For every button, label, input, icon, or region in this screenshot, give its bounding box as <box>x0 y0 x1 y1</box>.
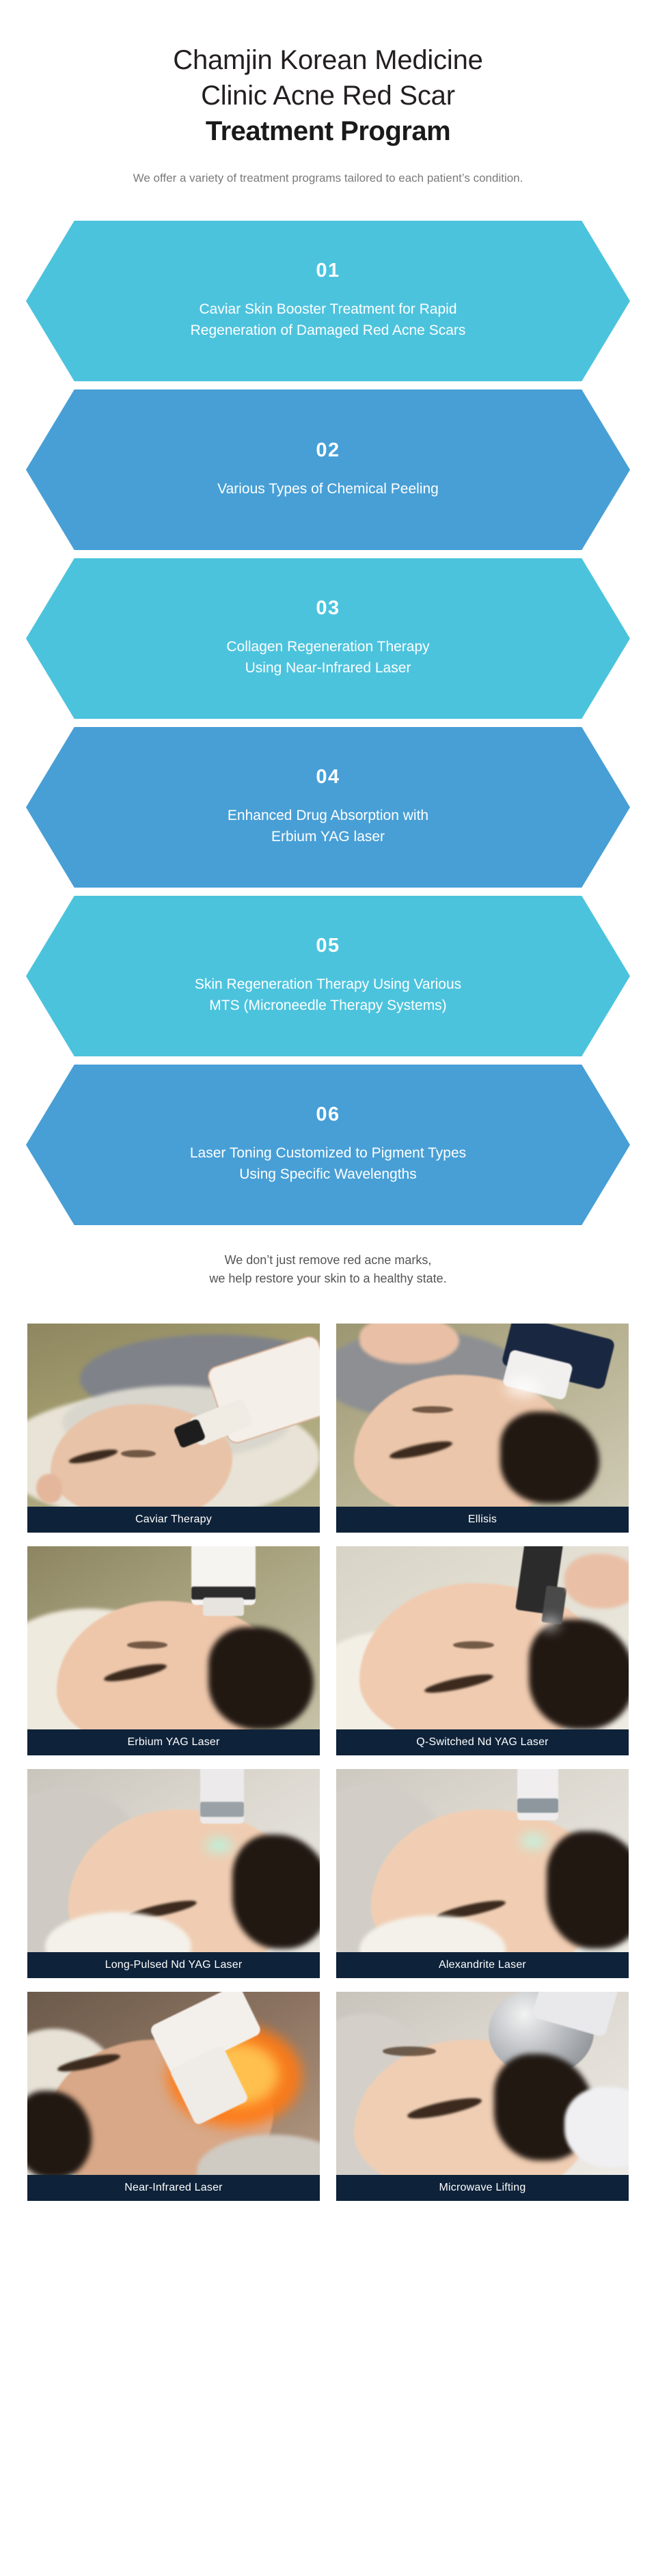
treatment-photo-q-switched-nd-yag-laser <box>336 1546 629 1729</box>
page-header: Chamjin Korean Medicine Clinic Acne Red … <box>0 0 656 187</box>
photo-caption: Near-Infrared Laser <box>27 2175 320 2201</box>
treatment-number: 05 <box>316 936 340 956</box>
photo-caption: Caviar Therapy <box>27 1507 320 1533</box>
gallery-item[interactable]: Ellisis <box>336 1324 629 1533</box>
photo-caption: Long-Pulsed Nd YAG Laser <box>27 1952 320 1978</box>
treatment-description: Enhanced Drug Absorption with Erbium YAG… <box>228 805 428 847</box>
treatment-photo-erbium-yag-laser <box>27 1546 320 1729</box>
gallery-item[interactable]: Microwave Lifting <box>336 1992 629 2201</box>
treatment-program-list: 01 Caviar Skin Booster Treatment for Rap… <box>0 221 656 1225</box>
photo-caption: Erbium YAG Laser <box>27 1729 320 1755</box>
page-title-line-2: Clinic Acne Red Scar <box>0 78 656 113</box>
page-subtitle: We offer a variety of treatment programs… <box>0 169 656 187</box>
treatment-number: 04 <box>316 767 340 787</box>
treatment-number: 06 <box>316 1105 340 1125</box>
treatment-description: Collagen Regeneration Therapy Using Near… <box>226 636 429 679</box>
photo-caption: Q-Switched Nd YAG Laser <box>336 1729 629 1755</box>
photo-caption: Ellisis <box>336 1507 629 1533</box>
gallery-item[interactable]: Caviar Therapy <box>27 1324 320 1533</box>
gallery-item[interactable]: Q-Switched Nd YAG Laser <box>336 1546 629 1755</box>
treatment-banner-03[interactable]: 03 Collagen Regeneration Therapy Using N… <box>26 558 630 719</box>
treatment-photo-long-pulsed-nd-yag-laser <box>27 1769 320 1952</box>
page-title-line-1: Chamjin Korean Medicine <box>0 42 656 78</box>
page-title-line-3: Treatment Program <box>0 113 656 149</box>
gallery-item[interactable]: Erbium YAG Laser <box>27 1546 320 1755</box>
treatment-photo-alexandrite-laser <box>336 1769 629 1952</box>
treatment-photo-gallery: Caviar Therapy Ellisis <box>0 1324 656 2242</box>
treatment-photo-near-infrared-laser <box>27 1992 320 2175</box>
treatment-description: Laser Toning Customized to Pigment Types… <box>190 1142 466 1185</box>
treatment-photo-ellisis <box>336 1324 629 1507</box>
treatment-photo-caviar-therapy <box>27 1324 320 1507</box>
gallery-item[interactable]: Near-Infrared Laser <box>27 1992 320 2201</box>
gallery-item[interactable]: Long-Pulsed Nd YAG Laser <box>27 1769 320 1978</box>
treatment-number: 03 <box>316 599 340 618</box>
treatment-number: 01 <box>316 261 340 281</box>
treatment-number: 02 <box>316 441 340 461</box>
treatment-banner-02[interactable]: 02 Various Types of Chemical Peeling <box>26 389 630 550</box>
treatment-description: Skin Regeneration Therapy Using Various … <box>195 974 461 1016</box>
gallery-item[interactable]: Alexandrite Laser <box>336 1769 629 1978</box>
photo-caption: Alexandrite Laser <box>336 1952 629 1978</box>
treatment-photo-microwave-lifting <box>336 1992 629 2175</box>
treatment-description: Various Types of Chemical Peeling <box>217 478 439 499</box>
photo-caption: Microwave Lifting <box>336 2175 629 2201</box>
treatment-banner-01[interactable]: 01 Caviar Skin Booster Treatment for Rap… <box>26 221 630 381</box>
treatment-banner-04[interactable]: 04 Enhanced Drug Absorption with Erbium … <box>26 727 630 888</box>
closing-statement: We don’t just remove red acne marks, we … <box>0 1251 656 1288</box>
treatment-banner-06[interactable]: 06 Laser Toning Customized to Pigment Ty… <box>26 1065 630 1225</box>
treatment-description: Caviar Skin Booster Treatment for Rapid … <box>191 299 466 341</box>
treatment-banner-05[interactable]: 05 Skin Regeneration Therapy Using Vario… <box>26 896 630 1056</box>
